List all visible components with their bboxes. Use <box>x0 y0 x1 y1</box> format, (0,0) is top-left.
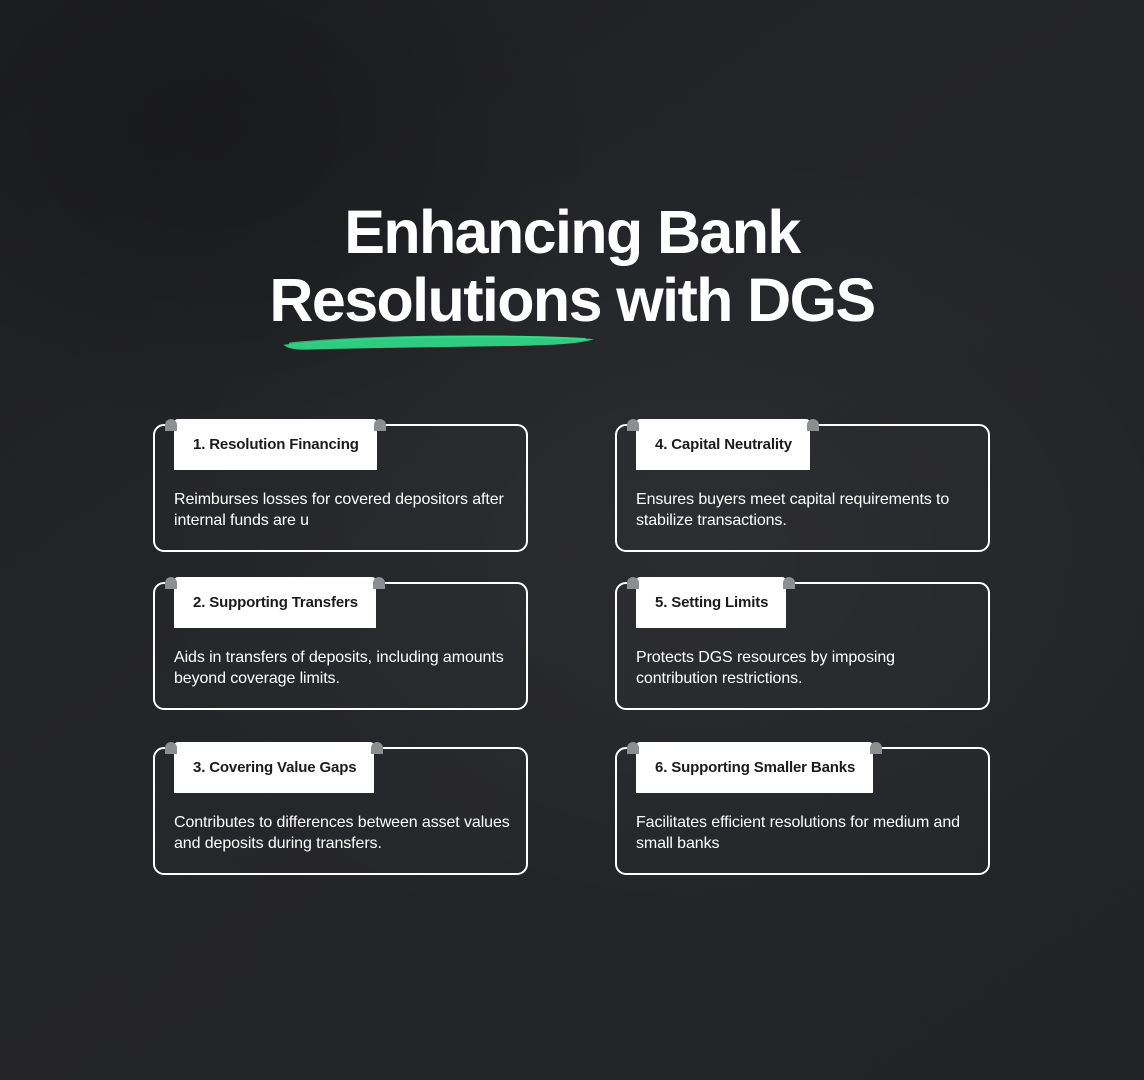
feature-card-2-body: Aids in transfers of deposits, including… <box>174 647 510 689</box>
feature-card-1[interactable]: 1. Resolution Financing Reimburses losse… <box>153 424 528 552</box>
feature-card-5-label: 5. Setting Limits <box>636 577 786 628</box>
feature-card-5[interactable]: 5. Setting Limits Protects DGS resources… <box>615 582 990 710</box>
feature-card-2-label: 2. Supporting Transfers <box>174 577 376 628</box>
feature-card-3-body: Contributes to differences between asset… <box>174 812 510 854</box>
feature-card-1-body: Reimburses losses for covered depositors… <box>174 489 510 531</box>
feature-card-3[interactable]: 3. Covering Value Gaps Contributes to di… <box>153 747 528 875</box>
feature-card-4-body: Ensures buyers meet capital requirements… <box>636 489 972 531</box>
feature-card-4[interactable]: 4. Capital Neutrality Ensures buyers mee… <box>615 424 990 552</box>
feature-card-1-label: 1. Resolution Financing <box>174 419 377 470</box>
feature-card-4-label: 4. Capital Neutrality <box>636 419 810 470</box>
feature-card-6-label: 6. Supporting Smaller Banks <box>636 742 873 793</box>
feature-card-3-label: 3. Covering Value Gaps <box>174 742 374 793</box>
feature-card-grid: 1. Resolution Financing Reimburses losse… <box>0 0 1144 1080</box>
feature-card-6[interactable]: 6. Supporting Smaller Banks Facilitates … <box>615 747 990 875</box>
feature-card-2[interactable]: 2. Supporting Transfers Aids in transfer… <box>153 582 528 710</box>
feature-card-6-body: Facilitates efficient resolutions for me… <box>636 812 972 854</box>
slide-canvas: Enhancing Bank Resolutions with DGS 1. R… <box>0 0 1144 1080</box>
feature-card-5-body: Protects DGS resources by imposing contr… <box>636 647 972 689</box>
